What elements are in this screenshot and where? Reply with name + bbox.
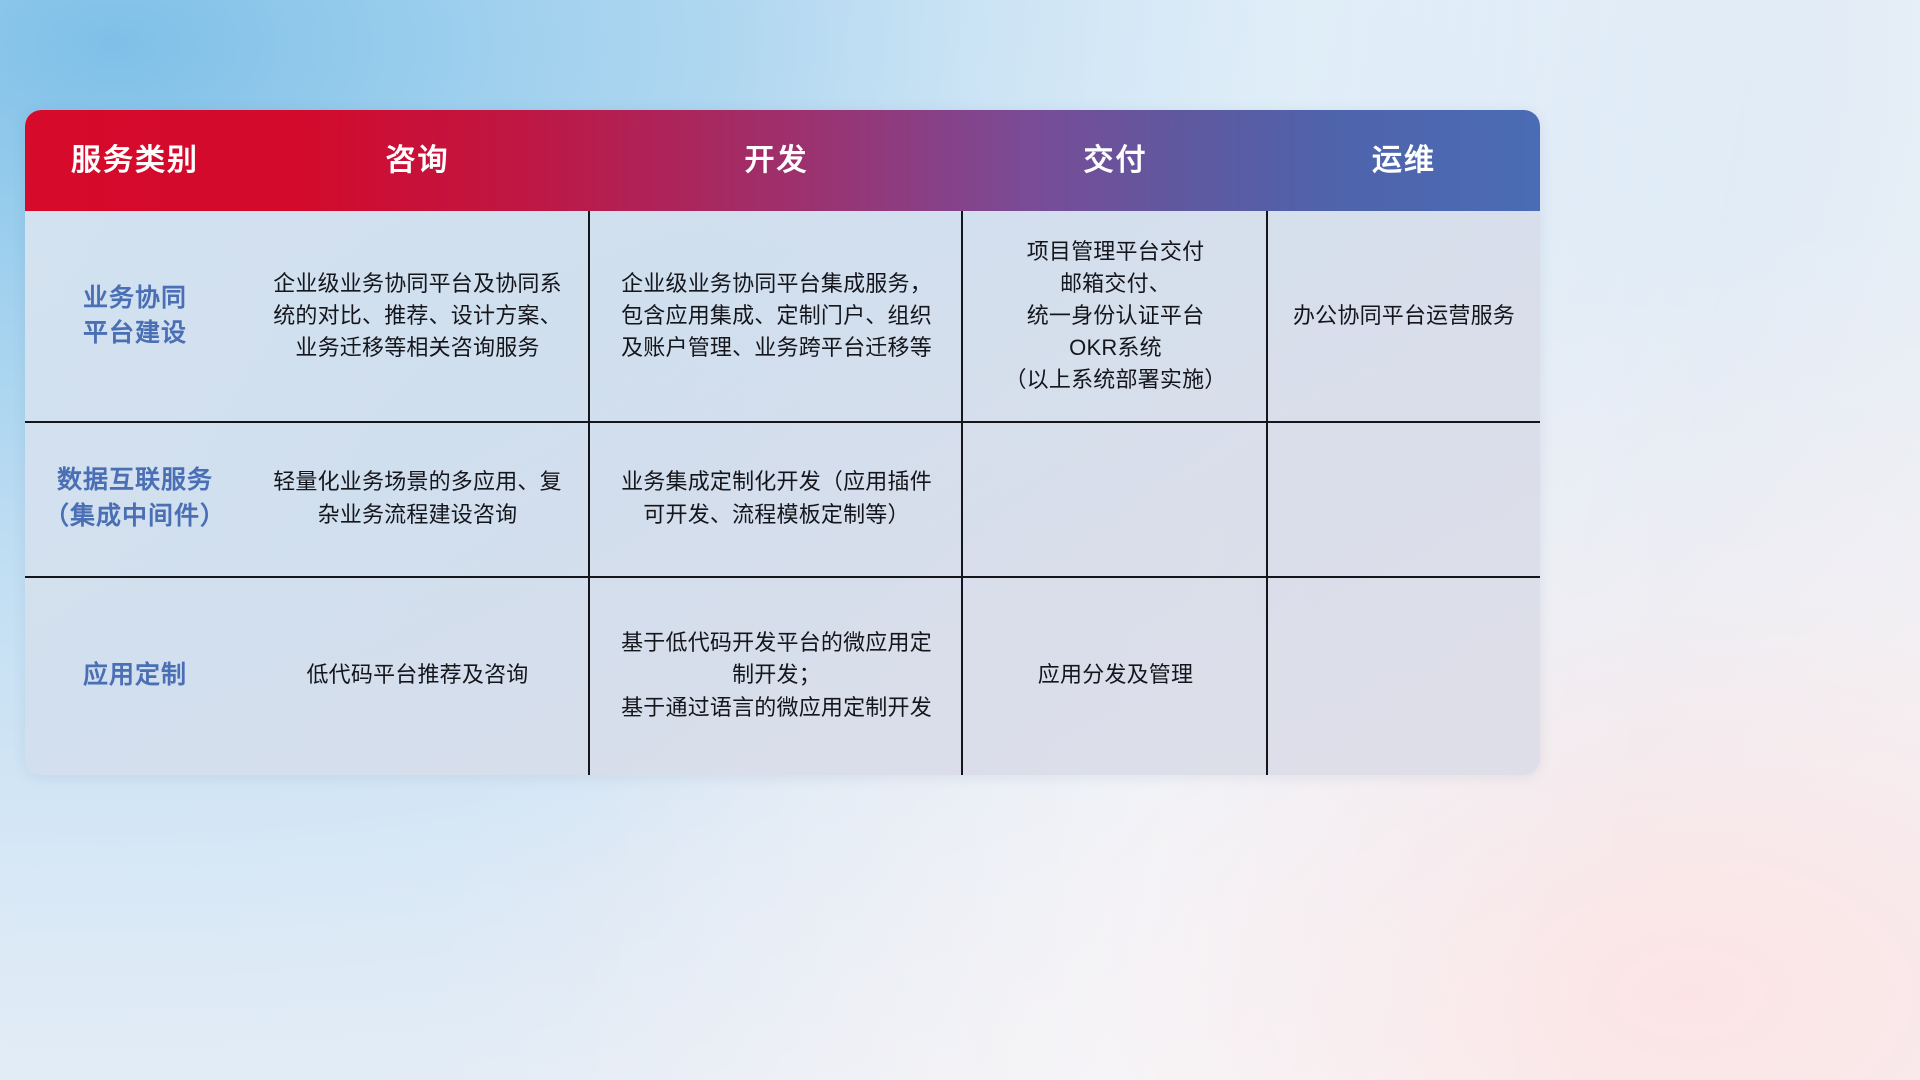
cell-app-custom-operations	[1268, 576, 1540, 775]
cell-data-interconnect-consulting: 轻量化业务场景的多应用、复 杂业务流程建设咨询	[245, 421, 590, 576]
cell-text: 应用分发及管理	[1038, 659, 1193, 691]
cell-app-custom-delivery: 应用分发及管理	[963, 576, 1268, 775]
table-row: 应用定制 低代码平台推荐及咨询 基于低代码开发平台的微应用定 制开发； 基于通过…	[25, 576, 1540, 775]
cell-text: 办公协同平台运营服务	[1293, 300, 1515, 332]
header-label-development: 开发	[745, 146, 809, 176]
cell-text: 业务集成定制化开发（应用插件 可开发、流程模板定制等）	[621, 466, 932, 530]
table-body: 业务协同 平台建设 企业级业务协同平台及协同系 统的对比、推荐、设计方案、 业务…	[25, 211, 1540, 775]
cell-text: 轻量化业务场景的多应用、复 杂业务流程建设咨询	[273, 466, 562, 530]
cell-biz-collab-delivery: 项目管理平台交付 邮箱交付、 统一身份认证平台 OKR系统 （以上系统部署实施）	[963, 211, 1268, 421]
cell-biz-collab-operations: 办公协同平台运营服务	[1268, 211, 1540, 421]
cell-data-interconnect-development: 业务集成定制化开发（应用插件 可开发、流程模板定制等）	[590, 421, 963, 576]
cell-biz-collab-consulting: 企业级业务协同平台及协同系 统的对比、推荐、设计方案、 业务迁移等相关咨询服务	[245, 211, 590, 421]
header-cell-service-category: 服务类别	[25, 140, 245, 182]
cell-text: 项目管理平台交付 邮箱交付、 统一身份认证平台 OKR系统 （以上系统部署实施）	[1004, 236, 1226, 397]
table-header-row: 服务类别 咨询 开发 交付 运维	[25, 110, 1540, 211]
header-label-consulting: 咨询	[386, 146, 450, 176]
header-label-service-category: 服务类别	[71, 146, 199, 176]
header-label-operations: 运维	[1372, 146, 1436, 176]
header-cell-consulting: 咨询	[245, 140, 590, 182]
row-label-cell-app-custom: 应用定制	[25, 576, 245, 775]
header-cell-operations: 运维	[1268, 140, 1540, 182]
cell-biz-collab-development: 企业级业务协同平台集成服务， 包含应用集成、定制门户、组织 及账户管理、业务跨平…	[590, 211, 963, 421]
row-label-cell-data-interconnect: 数据互联服务 （集成中间件）	[25, 421, 245, 576]
cell-text: 基于低代码开发平台的微应用定 制开发； 基于通过语言的微应用定制开发	[621, 627, 932, 723]
header-cell-delivery: 交付	[963, 140, 1268, 182]
table-row: 业务协同 平台建设 企业级业务协同平台及协同系 统的对比、推荐、设计方案、 业务…	[25, 211, 1540, 421]
row-label-data-interconnect: 数据互联服务 （集成中间件）	[44, 463, 226, 534]
cell-text: 企业级业务协同平台及协同系 统的对比、推荐、设计方案、 业务迁移等相关咨询服务	[273, 268, 562, 364]
row-label-cell-biz-collab: 业务协同 平台建设	[25, 211, 245, 421]
cell-data-interconnect-operations	[1268, 421, 1540, 576]
cell-data-interconnect-delivery	[963, 421, 1268, 576]
table-row: 数据互联服务 （集成中间件） 轻量化业务场景的多应用、复 杂业务流程建设咨询 业…	[25, 421, 1540, 576]
cell-app-custom-consulting: 低代码平台推荐及咨询	[245, 576, 590, 775]
row-label-app-custom: 应用定制	[83, 658, 187, 694]
header-label-delivery: 交付	[1084, 146, 1148, 176]
row-label-biz-collab: 业务协同 平台建设	[83, 281, 187, 352]
cell-text: 企业级业务协同平台集成服务， 包含应用集成、定制门户、组织 及账户管理、业务跨平…	[621, 268, 932, 364]
header-cell-development: 开发	[590, 140, 963, 182]
cell-app-custom-development: 基于低代码开发平台的微应用定 制开发； 基于通过语言的微应用定制开发	[590, 576, 963, 775]
cell-text: 低代码平台推荐及咨询	[306, 659, 528, 691]
service-matrix-table: 服务类别 咨询 开发 交付 运维 业务协同 平台建设 企业级业务协同平台及协同系…	[25, 110, 1540, 775]
